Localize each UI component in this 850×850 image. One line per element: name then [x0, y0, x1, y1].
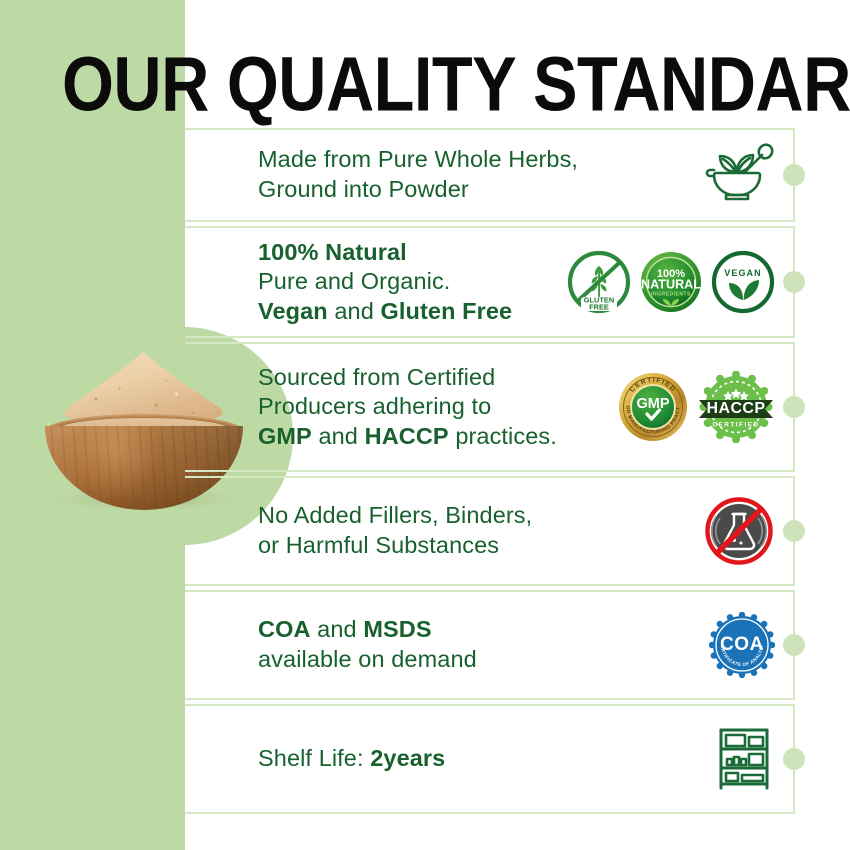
row-5-coa-label: COA [258, 616, 311, 642]
row-4-line-2: or Harmful Substances [258, 531, 532, 561]
vegan-label: VEGAN [724, 268, 762, 278]
row-2-line-2: Pure and Organic. [258, 267, 512, 297]
standards-list: Made from Pure Whole Herbs, Ground into … [185, 128, 795, 818]
coa-badge: COA CERTIFICATE OF ANALYSIS [709, 612, 775, 678]
row-2-gluten-free-label: Gluten Free [381, 298, 513, 324]
row-5-msds-label: MSDS [363, 616, 431, 642]
row-5-icons: COA CERTIFICATE OF ANALYSIS [709, 612, 775, 678]
vegan-badge: VEGAN [711, 250, 775, 314]
gluten-free-line-2: FREE [589, 303, 609, 312]
row-6-line-1: Shelf Life: 2years [258, 744, 445, 774]
row-3-icons: CERTIFIED GOOD MANUFACTURING PRACTICE GM… [617, 371, 775, 443]
row-6-text: Shelf Life: 2years [258, 744, 445, 774]
row-6-icons [713, 726, 775, 792]
row-1-text: Made from Pure Whole Herbs, Ground into … [258, 145, 578, 204]
row-3-and: and [312, 423, 365, 449]
row-4-line-1: No Added Fillers, Binders, [258, 501, 532, 531]
row-2-text: 100% Natural Pure and Organic. Vegan and… [258, 238, 512, 327]
row-6-shelf-life-value: 2years [370, 745, 445, 771]
row-2-vegan-label: Vegan [258, 298, 328, 324]
infographic-page: OUR QUALITY STANDARDS Made from Pure Who… [0, 0, 850, 850]
coa-main-label: COA [720, 634, 764, 655]
row-5-marker-dot [783, 634, 805, 656]
haccp-certified-badge: HACCP CERTIFIED [697, 371, 775, 443]
row-6-marker-dot [783, 748, 805, 770]
row-shelf-life: Shelf Life: 2years [185, 704, 795, 814]
row-3-marker-dot [783, 396, 805, 418]
storage-shelf-icon [713, 726, 775, 792]
row-natural-vegan-gluten-free: 100% Natural Pure and Organic. Vegan and… [185, 226, 795, 338]
row-3-gmp-label: GMP [258, 423, 312, 449]
row-5-line-2: available on demand [258, 645, 477, 675]
row-1-line-2: Ground into Powder [258, 175, 578, 205]
haccp-main-label: HACCP [707, 400, 766, 417]
row-5-line-1: COA and MSDS [258, 615, 477, 645]
row-no-fillers: No Added Fillers, Binders, or Harmful Su… [185, 476, 795, 586]
row-gmp-haccp-sourcing: Sourced from Certified Producers adherin… [185, 342, 795, 472]
row-4-marker-dot [783, 520, 805, 542]
row-4-text: No Added Fillers, Binders, or Harmful Su… [258, 501, 532, 560]
no-chemicals-icon [703, 495, 775, 567]
row-2-line-3: Vegan and Gluten Free [258, 297, 512, 327]
row-4-icons [703, 495, 775, 567]
row-6-shelf-life-label: Shelf Life: [258, 745, 370, 771]
gluten-free-badge: GLUTEN FREE [567, 250, 631, 314]
row-2-and: and [328, 298, 381, 324]
haccp-sub-label: CERTIFIED [712, 422, 759, 429]
row-1-icons [705, 142, 775, 208]
row-3-haccp-label: HACCP [365, 423, 449, 449]
row-1-marker-dot [783, 164, 805, 186]
row-5-text: COA and MSDS available on demand [258, 615, 477, 674]
row-3-line-2: Producers adhering to [258, 392, 557, 422]
row-3-text: Sourced from Certified Producers adherin… [258, 363, 557, 452]
gmp-center-label: GMP [636, 396, 669, 412]
row-pure-whole-herbs: Made from Pure Whole Herbs, Ground into … [185, 128, 795, 222]
row-3-practices: practices. [449, 423, 557, 449]
row-1-line-1: Made from Pure Whole Herbs, [258, 145, 578, 175]
natural-word-label: NATURAL [641, 278, 701, 292]
100-natural-ingredients-badge: 100% NATURAL INGREDIENTS [639, 250, 703, 314]
row-3-line-3: GMP and HACCP practices. [258, 422, 557, 452]
page-title: OUR QUALITY STANDARDS [62, 47, 850, 124]
mortar-pestle-icon [705, 142, 775, 208]
natural-sub-label: INGREDIENTS [651, 292, 691, 298]
gmp-certified-badge: CERTIFIED GOOD MANUFACTURING PRACTICE GM… [617, 371, 689, 443]
row-2-line-1: 100% Natural [258, 238, 512, 268]
row-coa-msds: COA and MSDS available on demand [185, 590, 795, 700]
row-2-marker-dot [783, 271, 805, 293]
row-3-line-1: Sourced from Certified [258, 363, 557, 393]
row-5-and: and [311, 616, 364, 642]
row-2-icons: GLUTEN FREE [567, 250, 775, 314]
